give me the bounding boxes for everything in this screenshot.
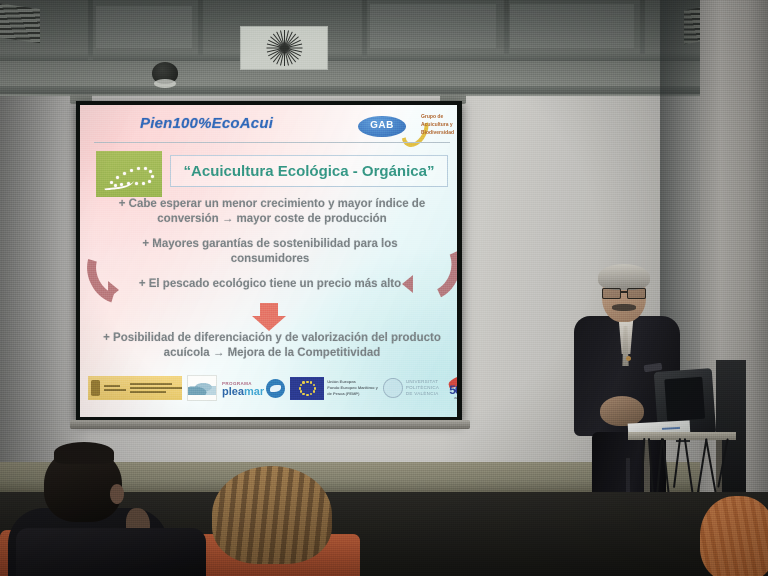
eu-star xyxy=(302,381,305,384)
eu-star xyxy=(306,394,309,397)
eu-flag-icon xyxy=(290,377,324,400)
cable xyxy=(717,438,729,487)
gab-logo: GAB Grupo de Acuicultura y Biodiversidad xyxy=(358,111,454,141)
curve-arrowhead xyxy=(108,281,119,299)
curved-arrow-right-icon xyxy=(400,233,446,287)
leaf-star xyxy=(148,180,151,183)
upv-logo: UNIVERSITAT POLITÈCNICA DE VALÈNCIA xyxy=(383,376,439,400)
arrow-head xyxy=(252,316,286,331)
dark-bag xyxy=(16,528,206,576)
arrow-stem xyxy=(260,303,278,317)
gab-acronym: GAB xyxy=(358,120,406,131)
cable xyxy=(673,438,681,488)
eu-star xyxy=(302,393,305,396)
pleamar-word-a: plea xyxy=(222,386,244,398)
pleamar-wordmark: pleamar xyxy=(222,388,264,396)
presenter-hair xyxy=(598,264,650,290)
audience-member-right xyxy=(700,496,768,576)
fundacion-biodiversidad-logo xyxy=(187,375,217,401)
gob-line xyxy=(130,391,166,393)
ceiling-air-diffuser xyxy=(240,26,328,70)
screen-bottom-bar xyxy=(70,420,470,429)
presenter-lapel-pin xyxy=(626,356,631,361)
aniversario-50-logo: 50 anys xyxy=(444,375,450,401)
eu-line-3: de Pesca (FEMP) xyxy=(327,391,378,397)
eu-organic-leaf-icon xyxy=(96,151,162,197)
cable xyxy=(648,438,654,498)
curved-arrow-left-icon xyxy=(88,237,134,291)
conference-room-photo: Pien100%EcoAcui GAB Grupo de Acuicultura… xyxy=(0,0,768,576)
leaf-star xyxy=(149,170,152,173)
leaf-star xyxy=(142,182,145,185)
slide-header: Pien100%EcoAcui GAB Grupo de Acuicultura… xyxy=(80,105,457,145)
down-arrow-icon xyxy=(252,303,286,331)
bullet-1: + Cabe esperar un menor crecimiento y ma… xyxy=(98,197,446,227)
gab-logo-text: Grupo de Acuicultura y Biodiversidad xyxy=(421,113,457,137)
leaf-star xyxy=(123,172,126,175)
ceiling-dome-light xyxy=(152,62,178,84)
gob-text-lines-2 xyxy=(130,383,182,393)
leaf-star xyxy=(120,183,123,186)
eu-star xyxy=(313,390,316,393)
eu-star xyxy=(306,381,309,384)
gob-line xyxy=(130,383,172,385)
slide-footer-logos: PROGRAMA pleamar Unión Europea Fondo Eur… xyxy=(88,373,450,403)
presenter-hands xyxy=(600,396,644,426)
anniversary-caption: anys xyxy=(454,395,457,400)
eu-star xyxy=(300,390,303,393)
gab-line-2: Acuicultura y xyxy=(421,121,457,129)
eu-star xyxy=(299,387,302,390)
ceiling-grid-rail xyxy=(504,0,509,54)
gob-text-lines xyxy=(104,385,126,391)
ceiling-panel xyxy=(96,6,192,48)
ceiling-panel xyxy=(370,4,496,48)
upv-line-3: DE VALÈNCIA xyxy=(406,391,439,397)
slide-title: “Acuicultura Ecológica - Orgánica” xyxy=(184,163,435,180)
upv-text: UNIVERSITAT POLITÈCNICA DE VALÈNCIA xyxy=(406,379,439,397)
audience-hair xyxy=(54,442,114,464)
upv-seal-icon xyxy=(383,378,403,398)
gob-line xyxy=(130,387,182,389)
eu-star xyxy=(300,384,303,387)
gab-line-1: Grupo de xyxy=(421,113,457,121)
presentation-slide: Pien100%EcoAcui GAB Grupo de Acuicultura… xyxy=(80,105,457,417)
gob-line xyxy=(104,389,126,391)
pleamar-logo: PROGRAMA pleamar xyxy=(222,376,285,400)
pleamar-wave-icon xyxy=(266,379,285,398)
ceiling-vent-left-icon xyxy=(0,3,40,43)
eyeglasses-icon xyxy=(602,288,647,297)
audience-ear xyxy=(110,484,124,504)
ceiling-grid-rail xyxy=(88,0,93,60)
bullet-2: + Mayores garantías de sostenibilidad pa… xyxy=(120,237,420,267)
gab-badge: GAB xyxy=(358,116,406,137)
project-title: Pien100%EcoAcui xyxy=(140,115,273,132)
curve-arrowhead xyxy=(402,275,413,293)
bullet-3: + El pescado ecológico tiene un precio m… xyxy=(114,277,426,292)
presenter-moustache xyxy=(612,304,636,311)
leaf-star xyxy=(110,181,113,184)
gob-line xyxy=(104,385,120,387)
biodiversidad-leaf-icon xyxy=(188,382,216,395)
eu-star xyxy=(310,381,313,384)
audience-hair xyxy=(212,466,332,564)
ceiling-panel xyxy=(510,4,634,48)
ceiling-grid-rail xyxy=(362,0,367,58)
gab-line-3: Biodiversidad xyxy=(421,129,457,137)
curve-stroke xyxy=(390,225,457,309)
ceiling-grid-rail xyxy=(640,0,645,54)
leaf-star xyxy=(127,182,130,185)
pleamar-text: PROGRAMA pleamar xyxy=(222,380,264,396)
header-divider xyxy=(94,142,450,143)
cable xyxy=(684,438,694,498)
ceiling-beam xyxy=(0,86,768,94)
leaf-star xyxy=(135,182,138,185)
leaf-star xyxy=(130,169,133,172)
lens-right xyxy=(627,288,646,299)
lens-left xyxy=(602,288,621,299)
eu-star xyxy=(313,384,316,387)
spain-crest-icon xyxy=(91,380,100,396)
leaf-star xyxy=(114,184,117,187)
ceiling-grid-rail xyxy=(198,0,203,56)
suspended-ceiling xyxy=(0,0,768,104)
leaf-star xyxy=(116,176,119,179)
leaf-star xyxy=(144,167,147,170)
audience-member-blonde-hair xyxy=(212,466,342,576)
leaf-star xyxy=(137,167,140,170)
bullet-4: + Posibilidad de diferenciación y de val… xyxy=(98,331,446,361)
cable xyxy=(641,438,646,488)
pleamar-word-b: mar xyxy=(244,386,264,398)
projection-screen: Pien100%EcoAcui GAB Grupo de Acuicultura… xyxy=(76,101,462,422)
eu-star xyxy=(310,393,313,396)
union-europea-logo: Unión Europea Fondo Europeo Marítimo y d… xyxy=(290,376,378,400)
ceiling-beam xyxy=(0,52,768,61)
eu-star xyxy=(314,387,317,390)
gobierno-de-espana-logo xyxy=(88,376,182,400)
eu-caption: Unión Europea Fondo Europeo Marítimo y d… xyxy=(327,379,378,397)
leaf-star xyxy=(151,175,154,178)
slide-title-box: “Acuicultura Ecológica - Orgánica” xyxy=(170,155,448,187)
